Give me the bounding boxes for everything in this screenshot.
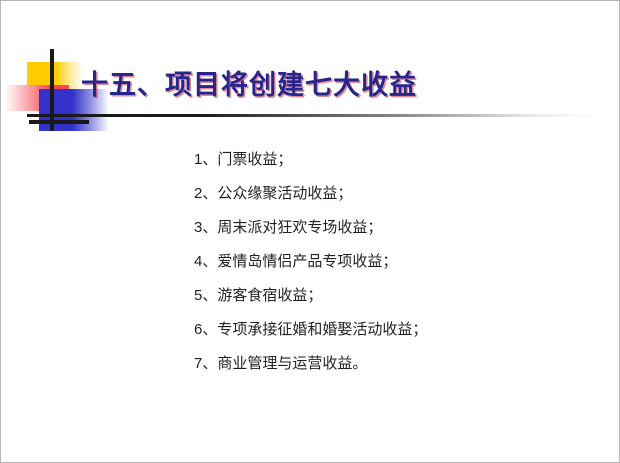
list-item-index: 1、 [194, 151, 217, 168]
list-item: 4、爱情岛情侣产品专项收益； [194, 245, 594, 279]
list-item-text: 商业管理与运营收益。 [217, 355, 367, 372]
list-item: 2、公众缘聚活动收益； [194, 177, 594, 211]
list-item-text: 专项承接征婚和婚娶活动收益； [217, 321, 427, 338]
list-item-index: 2、 [194, 185, 217, 202]
list-item-index: 5、 [194, 287, 217, 304]
horizontal-bar-shape [29, 120, 89, 124]
vertical-bar-shape [50, 49, 54, 131]
benefits-list: 1、门票收益； 2、公众缘聚活动收益； 3、周末派对狂欢专场收益； 4、爱情岛情… [194, 143, 594, 381]
presentation-slide: 十五、项目将创建七大收益 1、门票收益； 2、公众缘聚活动收益； 3、周末派对狂… [0, 0, 620, 463]
list-item-text: 门票收益； [217, 151, 292, 168]
slide-title: 十五、项目将创建七大收益 [81, 67, 417, 103]
list-item: 7、商业管理与运营收益。 [194, 347, 594, 381]
list-item: 6、专项承接征婚和婚娶活动收益； [194, 313, 594, 347]
list-item-index: 4、 [194, 253, 217, 270]
list-item-text: 公众缘聚活动收益； [217, 185, 352, 202]
list-item-text: 游客食宿收益； [217, 287, 322, 304]
list-item-text: 爱情岛情侣产品专项收益； [217, 253, 397, 270]
list-item: 1、门票收益； [194, 143, 594, 177]
list-item: 3、周末派对狂欢专场收益； [194, 211, 594, 245]
list-item-index: 7、 [194, 355, 217, 372]
list-item-index: 3、 [194, 219, 217, 236]
list-item-text: 周末派对狂欢专场收益； [217, 219, 382, 236]
title-divider [27, 114, 597, 117]
list-item: 5、游客食宿收益； [194, 279, 594, 313]
list-item-index: 6、 [194, 321, 217, 338]
